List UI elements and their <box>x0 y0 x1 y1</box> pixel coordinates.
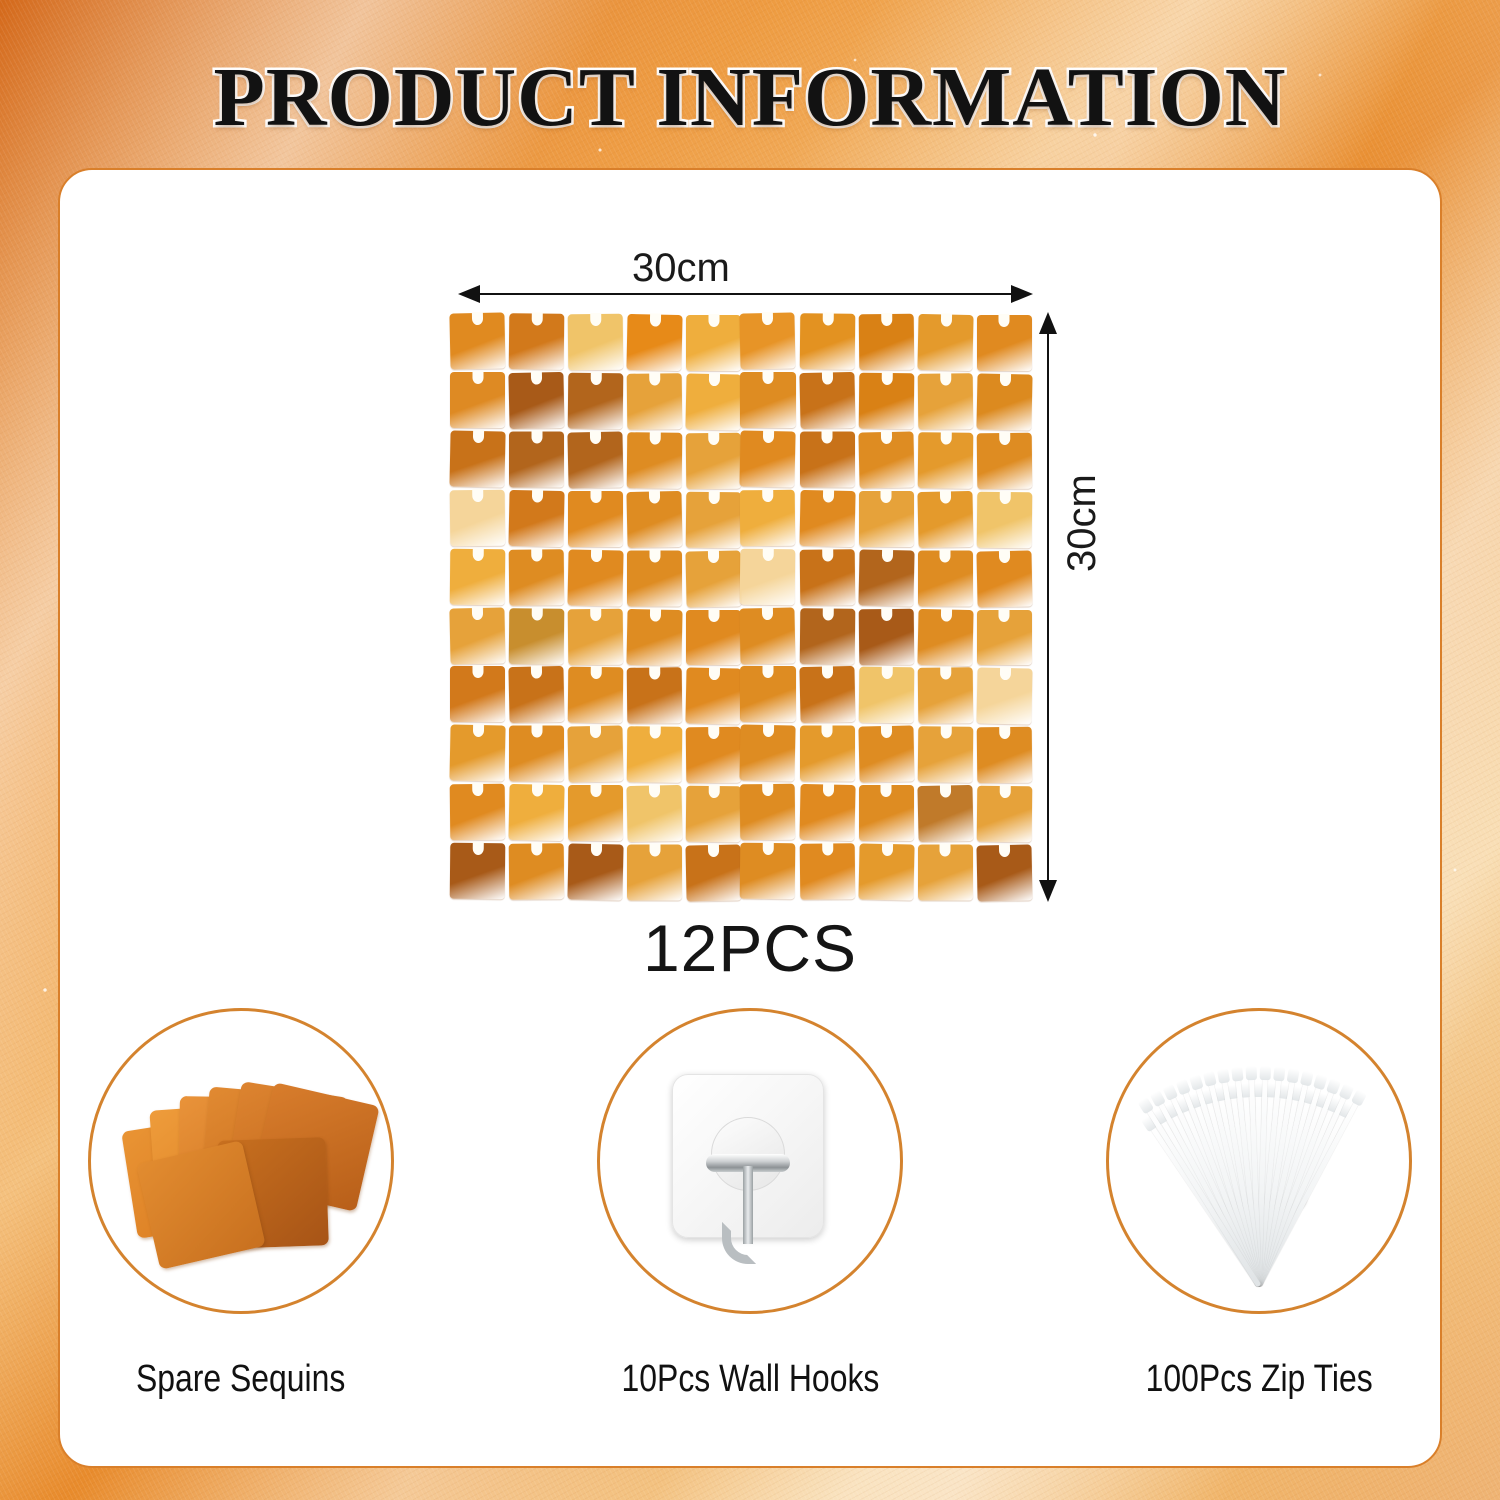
sequin-tile <box>859 785 914 841</box>
accessory-item-spare-sequins: Spare Sequins <box>78 1008 404 1401</box>
zip-tie-head <box>1273 1066 1285 1081</box>
sequin-tile <box>740 312 796 369</box>
sequin-tile <box>976 373 1032 430</box>
sequin-tile <box>858 844 914 901</box>
sequin-tile <box>686 727 742 783</box>
sequin-tile <box>509 843 565 899</box>
sequin-tile <box>740 725 796 782</box>
sequin-tile <box>977 315 1032 371</box>
sequin-tile <box>568 844 624 901</box>
sequin-tile <box>686 491 742 547</box>
sequin-stack-icon <box>91 1011 391 1311</box>
sequin-tile <box>509 726 564 782</box>
sequin-tile <box>858 314 914 370</box>
sequin-tile <box>740 489 796 545</box>
sequin-tile <box>976 550 1032 607</box>
accessory-caption: 100Pcs Zip Ties <box>1145 1358 1372 1401</box>
zip-tie-head <box>1162 1084 1178 1101</box>
sequin-tile <box>627 314 683 371</box>
sequin-panel <box>452 314 1030 900</box>
sequin-tile <box>740 843 796 899</box>
sequin-tile <box>449 430 505 487</box>
sequin-tile <box>449 312 505 369</box>
sequin-tile <box>627 608 683 665</box>
sequin-grid <box>452 314 1030 900</box>
sequin-tile <box>449 607 505 664</box>
sequin-tile <box>918 550 973 606</box>
sequin-tile <box>568 549 624 606</box>
sequin-tile <box>799 666 855 723</box>
zip-tie-head <box>1231 1067 1243 1082</box>
sequin-tile <box>800 431 855 487</box>
accessories-row: Spare Sequins 10Pcs Wall Hooks 100Pcs Zi… <box>78 1008 1422 1401</box>
sequin-tile <box>450 548 506 604</box>
sequin-tile <box>977 786 1033 842</box>
sequin-tile <box>568 314 624 370</box>
sequin-tile <box>799 490 855 547</box>
sequin-tile <box>686 844 742 901</box>
sequin-tile <box>917 491 973 548</box>
zip-tie-head <box>1246 1066 1257 1080</box>
zip-tie-head <box>1176 1078 1191 1095</box>
sequin-tile <box>858 373 914 429</box>
sequin-tile <box>686 786 742 842</box>
sequin-tile <box>509 490 565 547</box>
sequin-tile <box>859 491 914 547</box>
sequin-tile <box>450 666 505 722</box>
sequin-tile <box>509 549 565 605</box>
sequin-tile <box>858 726 914 783</box>
accessory-item-zip-ties: 100Pcs Zip Ties <box>1096 1008 1422 1401</box>
sequin-tile <box>509 608 565 664</box>
sequin-tile <box>858 431 914 488</box>
sequin-tile <box>799 549 855 605</box>
sequin-tile <box>977 432 1033 488</box>
sequin-tile <box>858 549 914 606</box>
zip-tie-head <box>1203 1071 1217 1087</box>
sequin-tile <box>976 668 1032 725</box>
sequin-tile <box>858 608 914 664</box>
sequin-stack-circle <box>88 1008 394 1314</box>
sequin-tile <box>976 844 1032 901</box>
sequin-tile <box>686 668 742 725</box>
sequin-tile <box>627 727 683 783</box>
sequin-tile <box>740 607 796 664</box>
height-dimension-label: 30cm <box>1060 474 1105 572</box>
sequin-tile <box>858 667 914 723</box>
sequin-tile <box>568 373 624 429</box>
zip-tie-head <box>1189 1074 1204 1091</box>
zip-tie-circle <box>1106 1008 1412 1314</box>
sequin-tile <box>799 608 855 664</box>
sequin-tile <box>568 431 624 488</box>
sequin-tile <box>686 550 742 607</box>
sequin-tile <box>627 785 683 842</box>
sequin-tile <box>627 550 682 606</box>
sequin-tile <box>918 727 974 783</box>
sequin-tile <box>627 845 682 901</box>
sequin-tile <box>509 431 564 487</box>
zip-tie-head <box>1313 1074 1328 1091</box>
sequin-tile <box>686 373 742 430</box>
sequin-tile <box>977 491 1033 547</box>
sequin-tile <box>568 726 624 783</box>
sequin-tile <box>799 313 855 369</box>
wall-hook-circle <box>597 1008 903 1314</box>
accessory-caption: 10Pcs Wall Hooks <box>621 1358 879 1401</box>
sequin-tile <box>800 726 855 782</box>
sequin-tile <box>449 725 505 782</box>
sequin-tile <box>799 372 855 429</box>
sequin-tile <box>977 727 1033 783</box>
sequin-tile <box>918 668 974 724</box>
zip-tie-head <box>1217 1068 1230 1084</box>
sequin-tile <box>568 785 623 841</box>
sequin-tile <box>627 432 683 488</box>
sequin-tile <box>977 610 1032 666</box>
zip-tie-head <box>1287 1068 1300 1084</box>
sequin-tile <box>686 432 742 488</box>
sequin-tile <box>740 548 796 604</box>
quantity-label: 12PCS <box>0 910 1500 986</box>
zip-tie-head <box>1260 1066 1271 1080</box>
sequin-tile <box>686 610 741 666</box>
sequin-tile <box>509 666 565 723</box>
sequin-tile <box>917 314 973 371</box>
sequin-tile <box>740 430 796 487</box>
sequin-tile <box>627 373 683 429</box>
zip-tie-head <box>1300 1070 1314 1086</box>
sequin-tile <box>918 432 974 488</box>
sequin-tile <box>450 372 505 428</box>
sequin-tile <box>509 372 565 429</box>
sequin-tile <box>509 313 565 369</box>
sequin-tile <box>568 608 624 664</box>
sequin-tile <box>450 784 506 840</box>
sequin-tile <box>627 491 683 548</box>
sequin-tile <box>799 843 855 899</box>
height-dimension-arrow-icon <box>1034 312 1062 902</box>
page-title: PRODUCT INFORMATION <box>0 56 1500 140</box>
sequin-tile <box>918 373 974 429</box>
sequin-tile <box>918 845 973 901</box>
sequin-tile <box>568 667 624 723</box>
accessory-caption: Spare Sequins <box>136 1358 345 1401</box>
accessory-item-wall-hooks: 10Pcs Wall Hooks <box>587 1008 913 1401</box>
sequin-tile <box>917 785 973 842</box>
hook-j-curve <box>722 1222 756 1264</box>
width-dimension-arrow-icon <box>458 280 1033 308</box>
sequin-tile <box>740 372 795 428</box>
zip-tie-bundle-icon <box>1164 1036 1354 1286</box>
sequin-tile <box>568 491 623 547</box>
sequin-tile <box>686 315 741 371</box>
zip-tie-head <box>1351 1089 1367 1107</box>
sequin-tile <box>740 784 796 840</box>
sequin-tile <box>740 666 795 722</box>
sequin-tile <box>450 489 506 545</box>
sequin-tile <box>627 668 683 724</box>
sequin-tile <box>509 784 565 841</box>
sequin-tile <box>450 843 506 899</box>
sequin-tile <box>917 608 973 665</box>
wall-hook-icon <box>672 1074 824 1238</box>
sequin-tile <box>799 784 855 841</box>
